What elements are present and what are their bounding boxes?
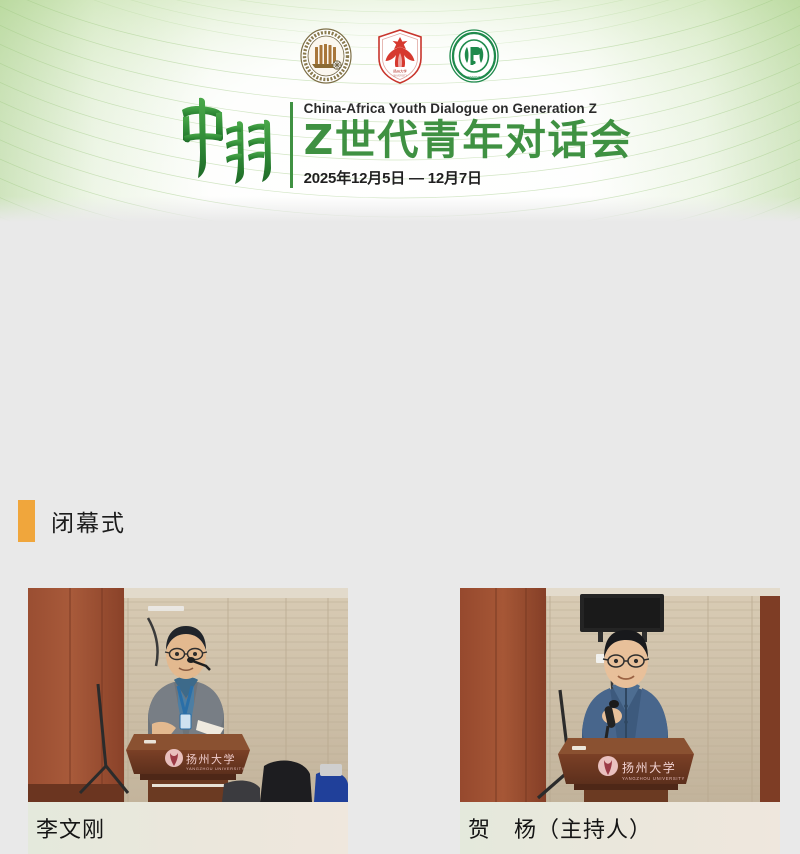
svg-text:UNIVERSITY: UNIVERSITY <box>466 75 482 79</box>
section-title: 闭幕式 <box>51 504 126 538</box>
gallery-item[interactable]: 扬州大学 YANGZHOU UNIVERSITY 李文刚 <box>28 588 348 854</box>
photo-caption: 贺 杨（主持人） <box>460 802 780 854</box>
caption-text: 贺 杨（主持人） <box>468 812 652 844</box>
title-chinese: Z世代青年对话会 <box>304 118 633 164</box>
african-union-emblem-icon <box>299 27 353 85</box>
title-english: China-Africa Youth Dialogue on Generatio… <box>304 102 633 117</box>
title-divider <box>290 102 293 188</box>
svg-text:扬州大学: 扬州大学 <box>393 69 407 74</box>
caption-text: 李文刚 <box>36 812 105 844</box>
event-date: 2025年12月5日 — 12月7日 <box>304 167 633 188</box>
university-red-shield-emblem-icon: 扬州大学 UNIVERSITY <box>373 27 427 85</box>
gallery-item[interactable]: 扬州大学 YANGZHOU UNIVERSITY 贺 杨（主持人） <box>460 588 780 854</box>
speaker-photo-li-wengang[interactable]: 扬州大学 YANGZHOU UNIVERSITY <box>28 588 348 802</box>
zhongfei-brush-logo-icon <box>168 96 288 186</box>
section-accent-bar <box>18 500 35 542</box>
svg-text:扬州大学: 扬州大学 <box>622 760 676 775</box>
green-circular-university-emblem-icon: UNIVERSITY <box>447 27 501 85</box>
svg-text:UNIVERSITY: UNIVERSITY <box>393 75 408 78</box>
speaker-photo-illustration-icon: 扬州大学 YANGZHOU UNIVERSITY <box>28 588 348 802</box>
event-banner: 扬州大学 UNIVERSITY UNIVERSITY <box>0 0 800 222</box>
speaker-photo-illustration-icon: 扬州大学 YANGZHOU UNIVERSITY <box>460 588 780 802</box>
svg-text:YANGZHOU UNIVERSITY: YANGZHOU UNIVERSITY <box>622 776 685 781</box>
photo-gallery: 扬州大学 YANGZHOU UNIVERSITY 李文刚 <box>28 588 780 854</box>
svg-text:YANGZHOU UNIVERSITY: YANGZHOU UNIVERSITY <box>186 766 245 771</box>
svg-text:扬州大学: 扬州大学 <box>186 752 236 766</box>
title-lockup: China-Africa Youth Dialogue on Generatio… <box>0 96 800 188</box>
page-root: 扬州大学 UNIVERSITY UNIVERSITY <box>0 0 800 709</box>
emblem-row: 扬州大学 UNIVERSITY UNIVERSITY <box>0 27 800 85</box>
title-text-column: China-Africa Youth Dialogue on Generatio… <box>304 96 633 188</box>
section-header: 闭幕式 <box>18 500 126 542</box>
speaker-photo-he-yang[interactable]: 扬州大学 YANGZHOU UNIVERSITY <box>460 588 780 802</box>
photo-caption: 李文刚 <box>28 802 348 854</box>
